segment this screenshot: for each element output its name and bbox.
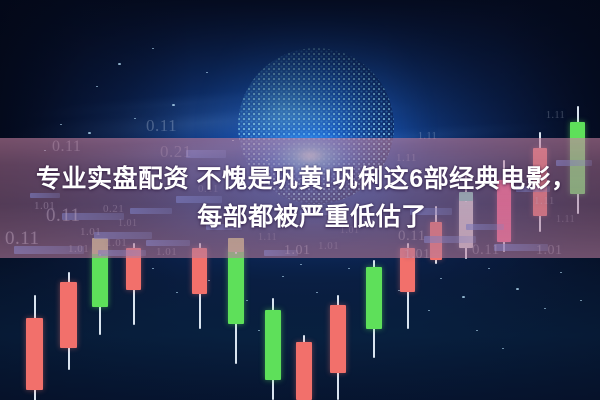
data-number: 0.11 [146,116,177,136]
data-number: 1.11 [546,110,565,121]
caption-text-block: 专业实盘配资 不愧是巩黄!巩俐这6部经典电影， 每部都被严重低估了 [0,138,600,258]
caption-line-1: 专业实盘配资 不愧是巩黄!巩俐这6部经典电影， [14,164,586,194]
cover-image: 0.110.110.111.011.011.011.010.211.011.01… [0,0,600,400]
caption-line-2: 每部都被严重低估了 [14,202,586,232]
